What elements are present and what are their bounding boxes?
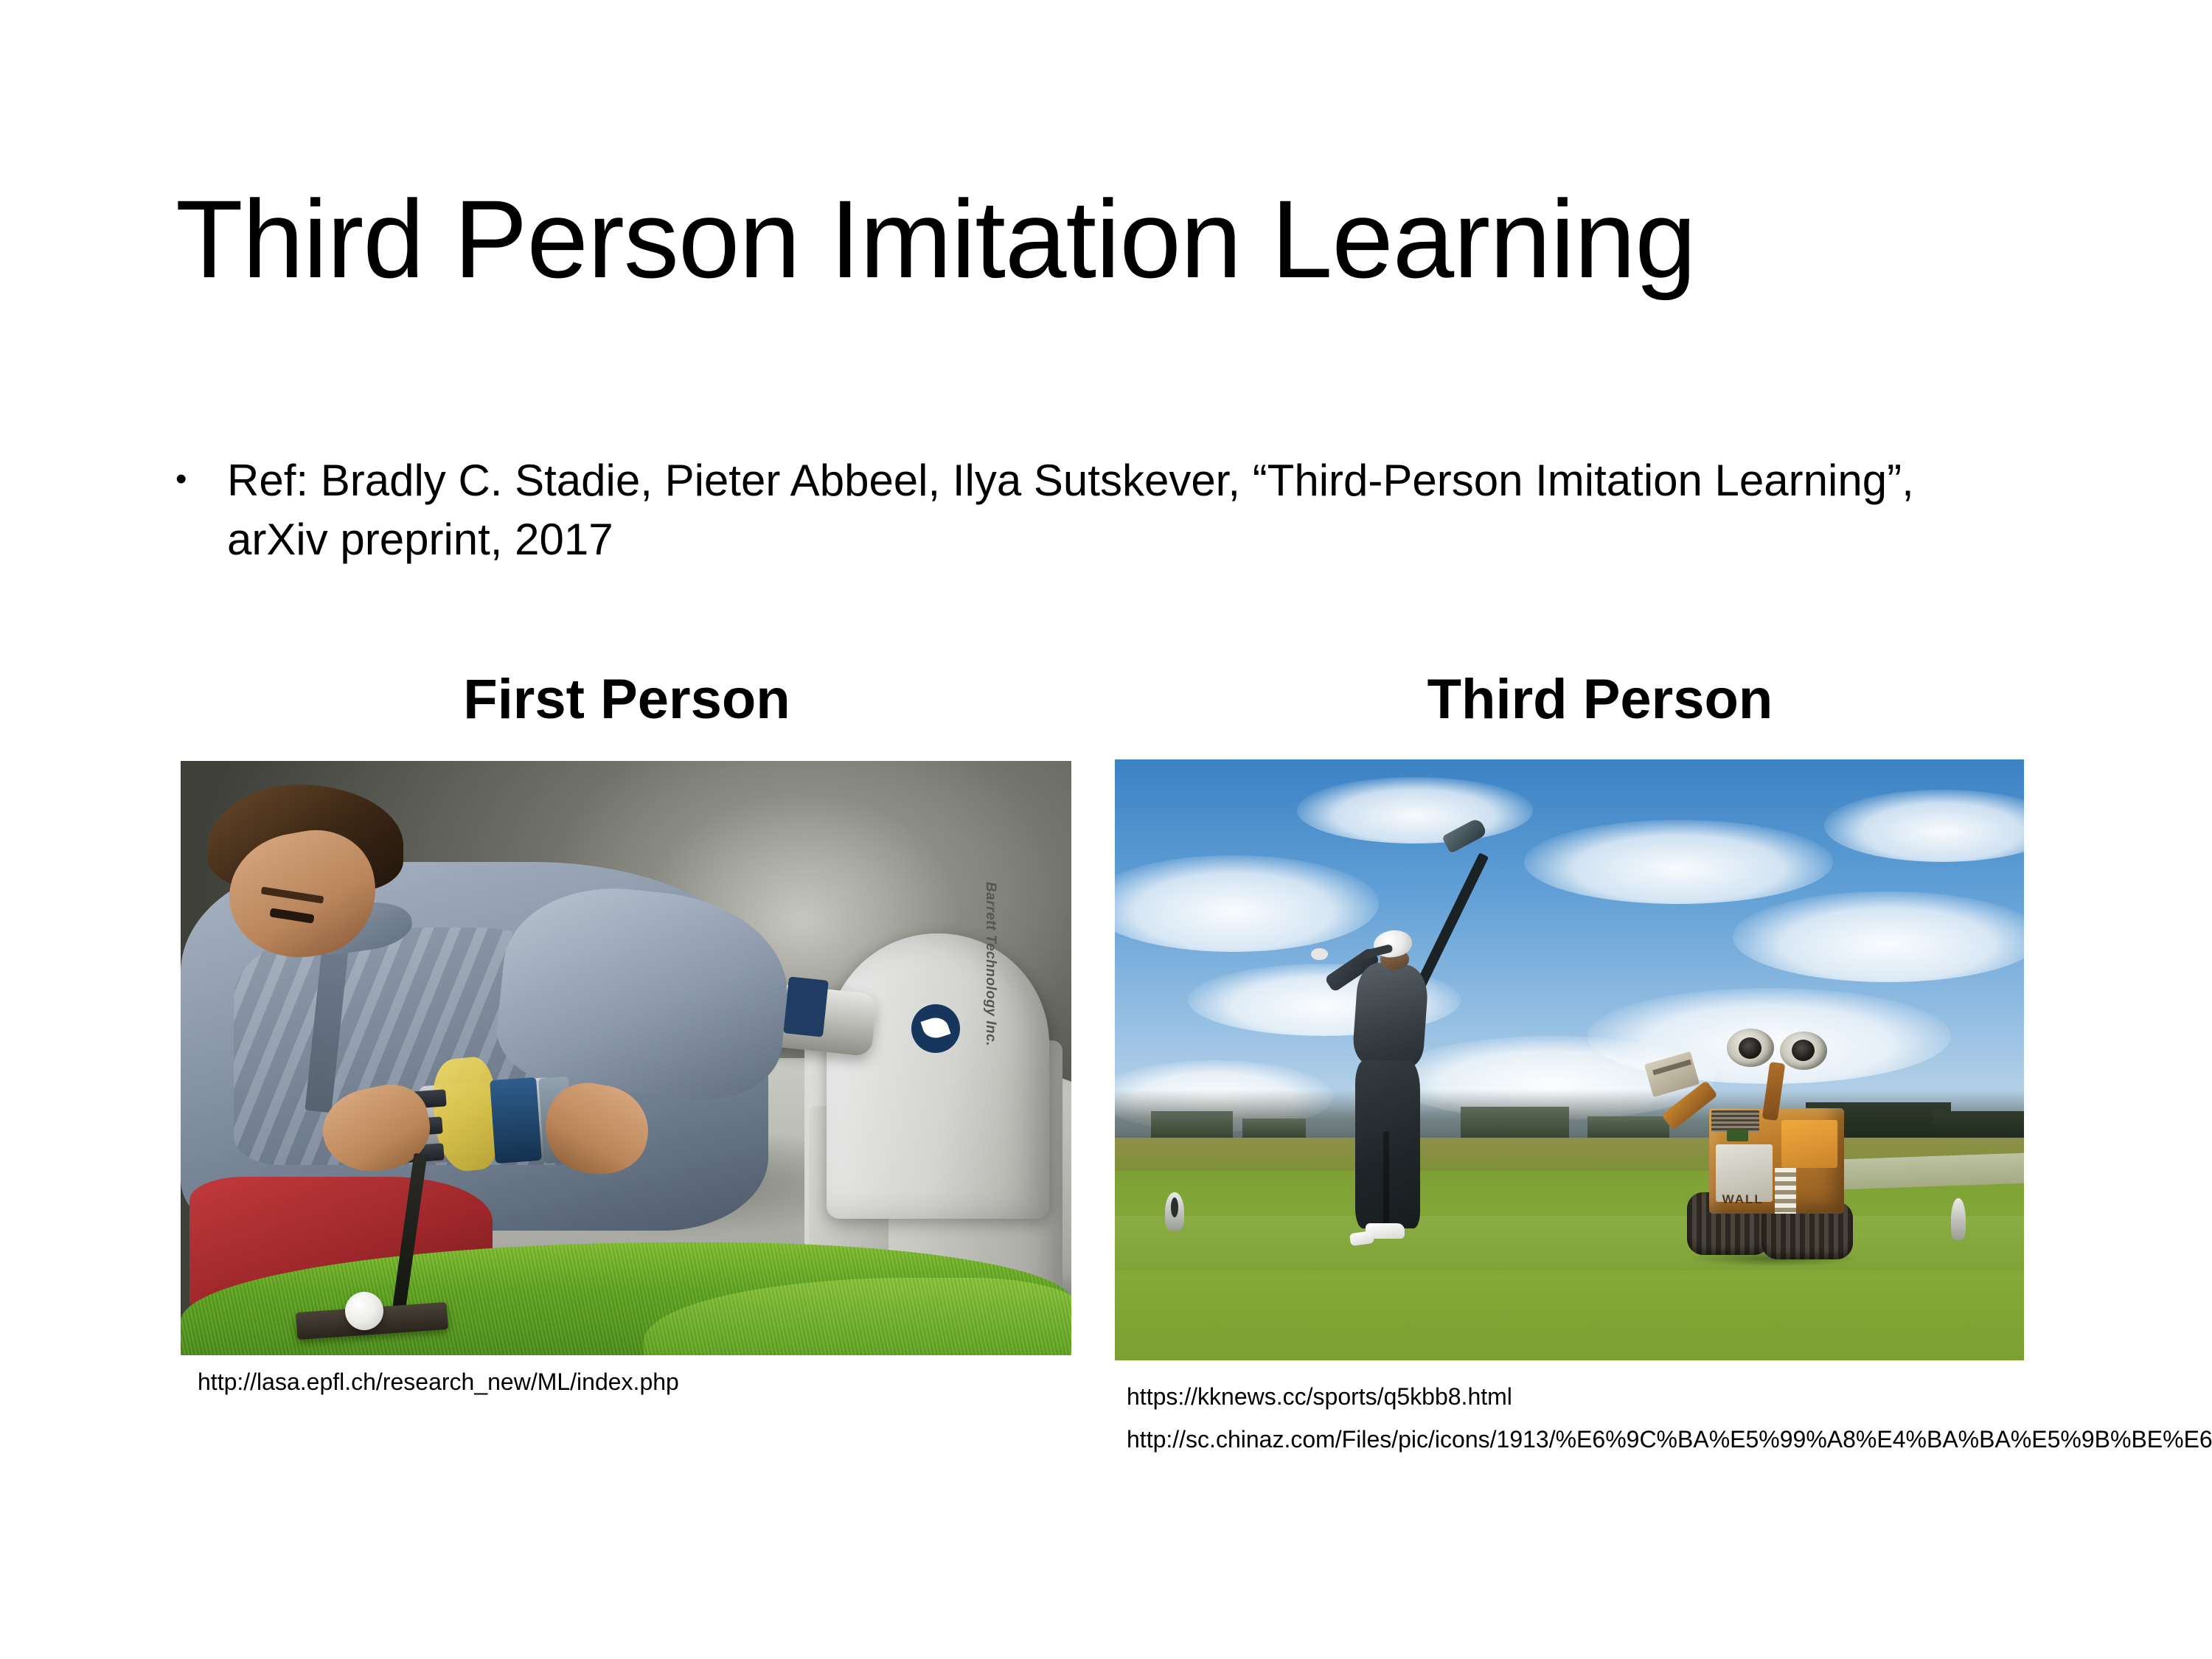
- walle-grill: [1711, 1110, 1759, 1132]
- distant-building: [1587, 1116, 1669, 1138]
- distant-building: [1461, 1107, 1570, 1138]
- walle-name-label: WALL: [1722, 1192, 1764, 1207]
- walle-eye-left: [1727, 1029, 1774, 1067]
- walle-screen: [1727, 1130, 1749, 1141]
- walle-pupil: [1739, 1037, 1761, 1059]
- walle-robot: WALL: [1678, 1024, 1896, 1265]
- column-heading-third-person: Third Person: [1268, 667, 1932, 731]
- caption-first-person-source: http://lasa.epfl.ch/research_new/ML/inde…: [198, 1366, 1082, 1399]
- golfer-glove: [1311, 948, 1327, 960]
- distant-building: [1242, 1119, 1306, 1138]
- caption-third-person-source-1: https://kknews.cc/sports/q5kbb8.html: [1127, 1380, 2085, 1413]
- walle-panel-orange: [1781, 1120, 1838, 1168]
- robot-brand-label: Barrett Technology Inc.: [982, 882, 998, 1046]
- list-item: • Ref: Bradly C. Stadie, Pieter Abbeel, …: [175, 451, 1960, 569]
- gripper-blue-ring: [490, 1077, 542, 1164]
- robot-arm-band-blue: [784, 976, 829, 1037]
- tee-marker: [1951, 1198, 1966, 1240]
- third-person-photo: WALL: [1115, 759, 2024, 1360]
- tee-marker: [1165, 1192, 1184, 1231]
- column-heading-first-person: First Person: [295, 667, 959, 731]
- barrett-logo-icon: [911, 1004, 960, 1053]
- distant-building: [1151, 1111, 1233, 1138]
- walle-eyes: [1727, 1029, 1827, 1067]
- cloud: [1524, 820, 1833, 904]
- caption-third-person-source-2: http://sc.chinaz.com/Files/pic/icons/191…: [1127, 1423, 2115, 1456]
- reference-text: Ref: Bradly C. Stadie, Pieter Abbeel, Il…: [227, 451, 1923, 569]
- robot-head-housing: [827, 933, 1049, 1219]
- first-person-photo-canvas: Barrett Technology Inc.: [181, 761, 1071, 1355]
- walle-eye-right: [1780, 1032, 1827, 1070]
- page-title: Third Person Imitation Learning: [175, 175, 2063, 303]
- cloud: [1297, 777, 1534, 844]
- bullet-dot-icon: •: [175, 451, 227, 507]
- walle-hazard-stripe: [1775, 1168, 1797, 1214]
- first-person-photo: Barrett Technology Inc.: [181, 761, 1071, 1355]
- golfer-torso: [1352, 961, 1430, 1068]
- distant-building: [1933, 1111, 2024, 1141]
- third-person-photo-canvas: WALL: [1115, 759, 2024, 1360]
- cloud: [1733, 891, 2024, 981]
- golfer-leg-gap: [1383, 1132, 1390, 1228]
- reference-bullet-list: • Ref: Bradly C. Stadie, Pieter Abbeel, …: [175, 451, 1960, 569]
- walle-pupil: [1792, 1040, 1815, 1061]
